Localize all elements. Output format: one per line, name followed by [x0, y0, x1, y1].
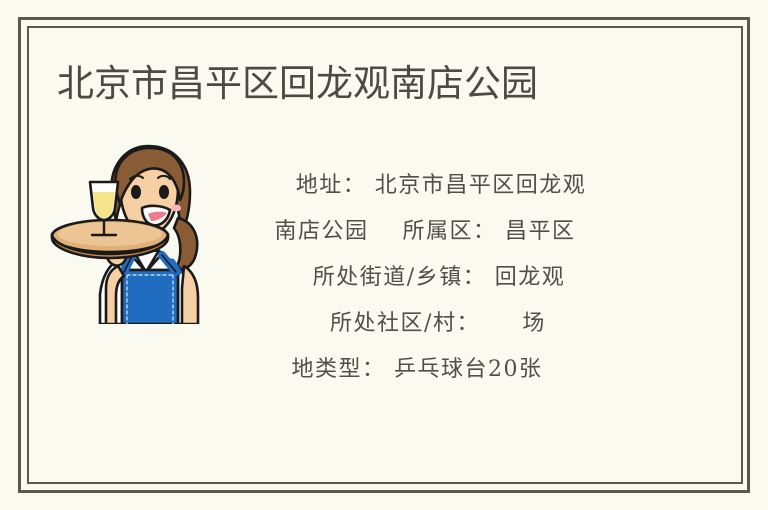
info-line-landtype: 地类型： 乒乓球台20张 — [222, 347, 634, 393]
info-line-address: 地址： 北京市昌平区回龙观 — [222, 163, 634, 209]
waitress-with-tray-illustration — [48, 138, 224, 324]
info-line-street: 所处街道/乡镇： 回龙观 — [222, 255, 634, 301]
info-line-district: 南店公园 所属区： 昌平区 — [222, 209, 634, 255]
info-text-block: 地址： 北京市昌平区回龙观 南店公园 所属区： 昌平区 所处街道/乡镇： 回龙观… — [222, 163, 634, 393]
page-title: 北京市昌平区回龙观南店公园 — [57, 62, 538, 106]
info-card: 北京市昌平区回龙观南店公园 — [0, 0, 768, 510]
info-line-community: 所处社区/村： 场 — [222, 301, 634, 347]
